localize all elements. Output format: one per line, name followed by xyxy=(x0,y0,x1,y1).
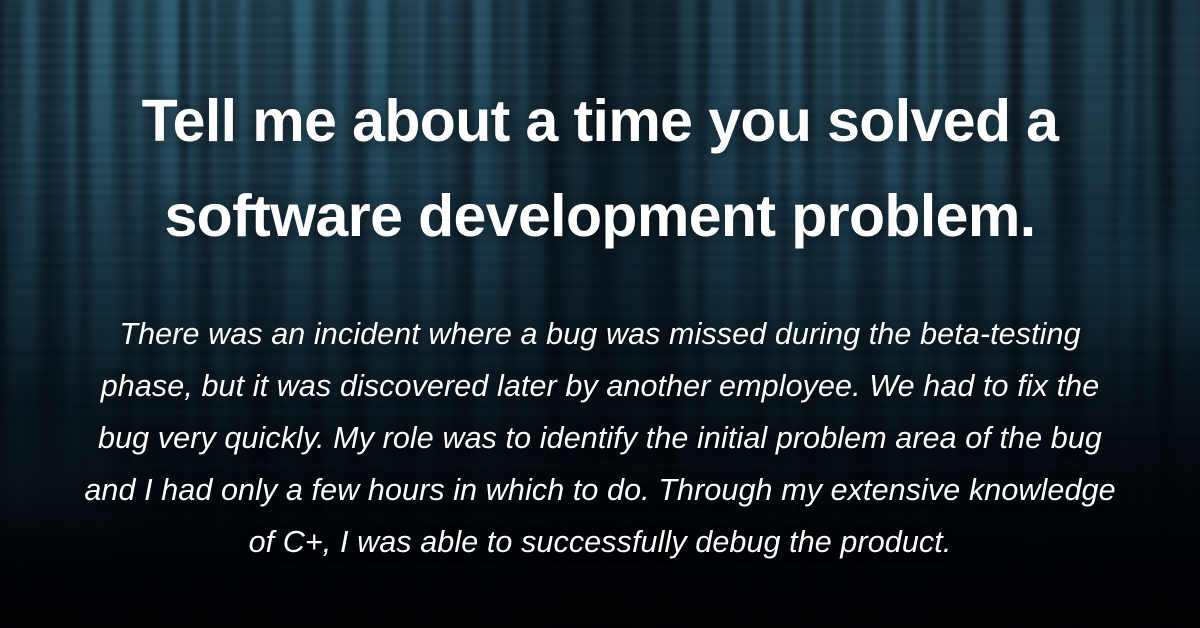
card-content: Tell me about a time you solved a softwa… xyxy=(0,0,1200,628)
answer-line-2: phase, but it was discovered later by an… xyxy=(14,360,1186,412)
headline-line-2: software development problem. xyxy=(100,169,1100,264)
headline-line-1: Tell me about a time you solved a xyxy=(100,74,1100,169)
answer-paragraph: There was an incident where a bug was mi… xyxy=(14,308,1186,568)
answer-line-1: There was an incident where a bug was mi… xyxy=(14,308,1186,360)
answer-line-5: of C+, I was able to successfully debug … xyxy=(14,516,1186,568)
answer-line-3: bug very quickly. My role was to identif… xyxy=(14,412,1186,464)
answer-line-4: and I had only a few hours in which to d… xyxy=(14,464,1186,516)
interview-question-card: Tell me about a time you solved a softwa… xyxy=(0,0,1200,628)
question-headline: Tell me about a time you solved a softwa… xyxy=(100,74,1100,264)
